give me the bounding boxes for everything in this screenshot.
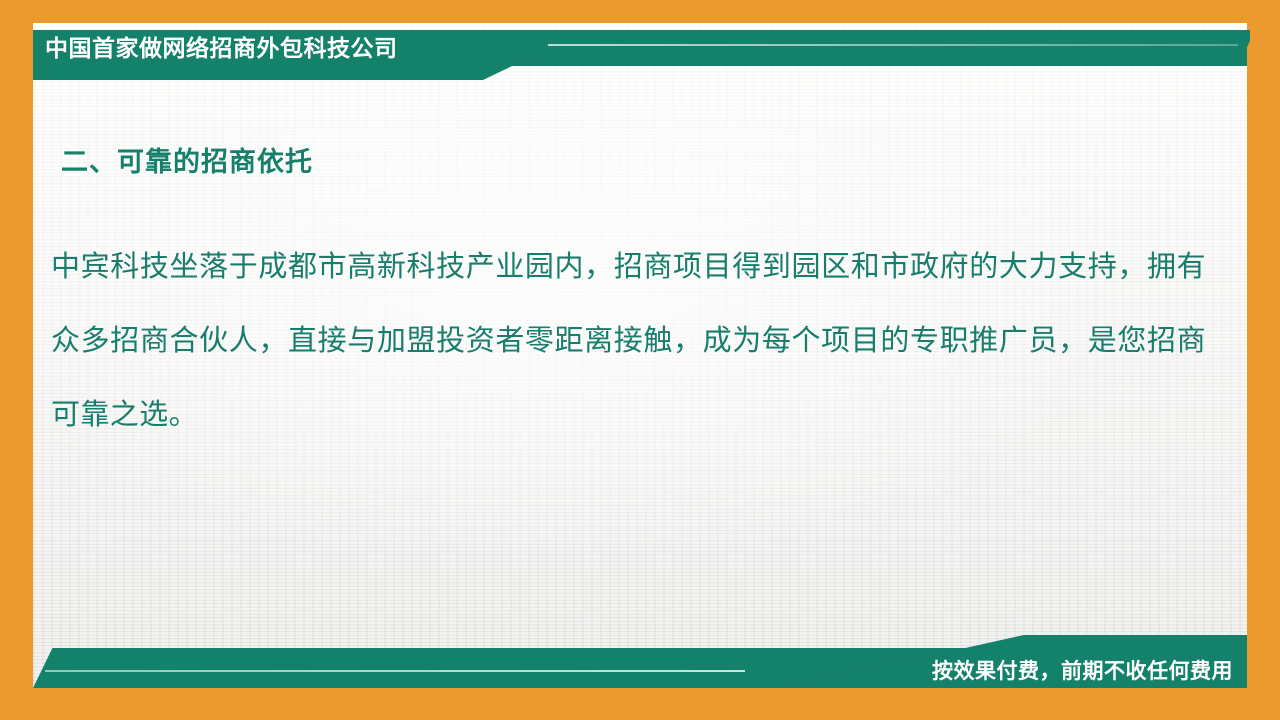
- section-heading: 二、可靠的招商依托: [61, 140, 313, 179]
- content-inner: 二、可靠的招商依托 中宾科技坐落于成都市高新科技产业园内，招商项目得到园区和市政…: [33, 23, 1247, 688]
- body-paragraph: 中宾科技坐落于成都市高新科技产业园内，招商项目得到园区和市政府的大力支持，拥有众…: [51, 229, 1206, 451]
- content-area: 二、可靠的招商依托 中宾科技坐落于成都市高新科技产业园内，招商项目得到园区和市政…: [33, 23, 1247, 688]
- slide-root: 中国首家做网络招商外包科技公司 二、可靠的招商依托 中宾科技坐落于成都市高新科技…: [0, 0, 1280, 720]
